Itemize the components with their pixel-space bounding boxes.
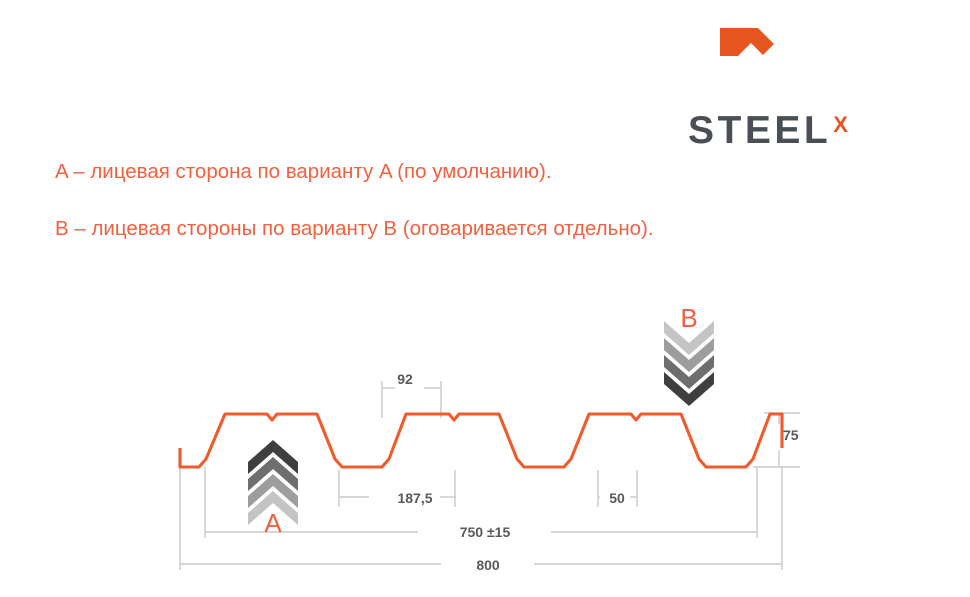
marker-b-label: B (669, 303, 709, 334)
profile-technical-drawing (0, 0, 970, 597)
marker-a-label: A (253, 508, 293, 539)
corrugated-profile-outline (180, 414, 782, 467)
dimension-pitch: 187,5 (370, 490, 460, 506)
dimension-valley-width: 50 (587, 490, 647, 506)
dimension-useful-width: 750 ±15 (420, 524, 550, 540)
dimension-crest-width: 92 (375, 371, 435, 387)
dimension-total-width: 800 (443, 557, 533, 573)
dimension-profile-height: 75 (783, 427, 823, 443)
